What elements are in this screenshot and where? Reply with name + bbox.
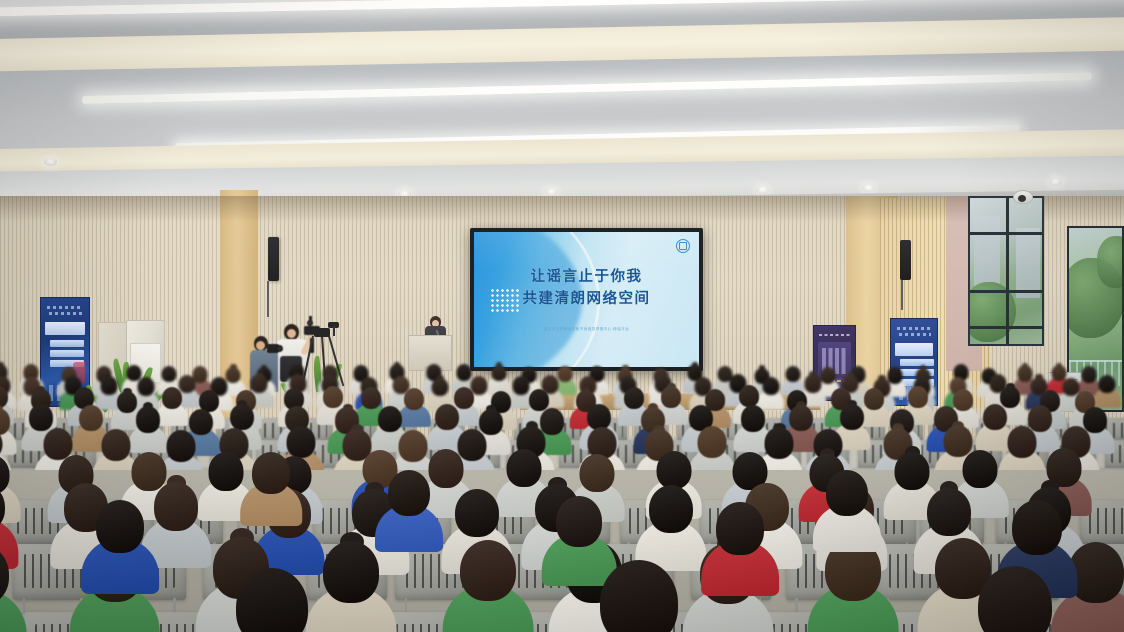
audience-head xyxy=(456,364,471,381)
speaker-cable-left xyxy=(267,281,269,317)
downlight-3 xyxy=(756,186,769,194)
audience-head xyxy=(820,367,835,384)
banner-left-headline xyxy=(45,322,85,335)
audience-member xyxy=(388,470,430,554)
audience-head xyxy=(765,427,794,459)
led-screen-frame: 让谣言止于你我 共建清朗网络空间 重庆市互联网违法和不良信息举报中心·辟谣平台 xyxy=(470,228,703,371)
audience-head xyxy=(29,404,53,430)
downlight-6 xyxy=(1049,178,1062,186)
speaker-cable-right xyxy=(901,280,903,310)
chair-back-slots xyxy=(1089,508,1124,534)
audience-member xyxy=(435,404,459,452)
audience-head xyxy=(512,376,529,395)
ceiling-security-camera xyxy=(1013,190,1033,204)
window-left-bank xyxy=(968,196,1044,346)
audience-head xyxy=(399,430,428,462)
audience-head xyxy=(136,406,160,432)
audience-head xyxy=(378,406,402,432)
audience-head xyxy=(697,426,726,458)
screen-subtitle: 重庆市互联网违法和不良信息举报中心·辟谣平台 xyxy=(474,327,699,332)
audience-member xyxy=(252,452,290,528)
audience-member xyxy=(741,405,765,453)
screen-title-line-2: 共建清朗网络空间 xyxy=(474,288,699,310)
audience-head xyxy=(460,540,516,602)
audience-head xyxy=(963,450,998,489)
audience-head xyxy=(209,452,244,491)
window-view-building-2 xyxy=(1016,228,1040,298)
audience-member xyxy=(136,406,160,454)
audience-member xyxy=(323,541,379,632)
audience-member xyxy=(154,482,198,570)
audience-foreground-head xyxy=(600,560,678,632)
downlight-4 xyxy=(862,184,875,192)
audience-head xyxy=(166,430,195,462)
audience-head xyxy=(432,378,449,397)
audience-head xyxy=(741,405,765,431)
led-screen: 让谣言止于你我 共建清朗网络空间 重庆市互联网违法和不良信息举报中心·辟谣平台 xyxy=(474,232,699,367)
audience-head xyxy=(661,386,681,408)
audience-head xyxy=(428,449,463,488)
audience-head xyxy=(1099,375,1116,394)
audience-head xyxy=(739,385,759,407)
banner-right-headline xyxy=(895,343,933,356)
audience-head xyxy=(323,386,343,408)
audience-head xyxy=(624,387,644,409)
audience-head xyxy=(79,405,103,431)
audience-member xyxy=(512,376,529,410)
audience-head xyxy=(587,404,611,430)
audience-head xyxy=(864,388,884,410)
audience-head xyxy=(388,470,430,516)
audience-member xyxy=(96,500,144,596)
audience-member xyxy=(1099,375,1116,409)
audience-head xyxy=(102,429,131,461)
audience-member xyxy=(716,502,764,598)
audience-head xyxy=(649,485,693,533)
audience-head xyxy=(558,366,573,383)
screen-title: 让谣言止于你我 共建清朗网络空间 xyxy=(474,266,699,310)
audience-member xyxy=(404,388,424,428)
wall-speaker-right xyxy=(900,240,911,280)
audience-head xyxy=(162,387,182,409)
audience-head xyxy=(226,367,241,384)
audience-member xyxy=(460,540,516,632)
audience-member xyxy=(79,405,103,453)
audience-member xyxy=(840,404,864,452)
screen-logo-icon xyxy=(676,239,690,253)
audience-member xyxy=(0,544,9,632)
wall-top-shadow xyxy=(0,196,1124,222)
audience-foreground-head xyxy=(978,566,1052,632)
audience-head xyxy=(236,568,308,632)
audience-head xyxy=(786,366,801,383)
audience-head xyxy=(1012,500,1062,555)
downlight-2 xyxy=(545,188,558,196)
audience-member xyxy=(864,388,884,428)
audience-head xyxy=(491,365,506,382)
audience-head xyxy=(579,454,614,493)
wall-camera-mount xyxy=(333,326,335,336)
door-view-tree-2 xyxy=(1097,236,1124,288)
audience-head xyxy=(656,451,691,490)
photo-camera-lens xyxy=(276,345,283,352)
audience-head xyxy=(154,482,198,530)
audience-head xyxy=(137,377,154,396)
audience-head xyxy=(100,376,117,395)
screen-title-line-1: 让谣言止于你我 xyxy=(531,269,643,285)
audience-head xyxy=(96,500,144,553)
audience-member xyxy=(117,391,137,431)
audience-member xyxy=(162,387,182,427)
audience-member xyxy=(556,496,602,588)
audience-head xyxy=(117,391,137,413)
audience-foreground-head xyxy=(236,568,308,632)
audience-head xyxy=(908,386,928,408)
conference-hall-photo: 让谣言止于你我 共建清朗网络空间 重庆市互联网违法和不良信息举报中心·辟谣平台 xyxy=(0,0,1124,632)
audience-head xyxy=(252,452,290,494)
downlight-5 xyxy=(44,158,57,166)
audience-member xyxy=(209,452,244,522)
audience-member xyxy=(762,377,779,411)
audience-head xyxy=(162,366,177,383)
audience-head xyxy=(506,449,541,488)
audience-head xyxy=(230,404,254,430)
audience-member xyxy=(983,404,1007,452)
audience-head xyxy=(1081,366,1096,383)
audience-head xyxy=(556,496,602,547)
audience-head xyxy=(287,426,316,458)
audience-head xyxy=(716,502,764,555)
audience-head xyxy=(826,470,868,516)
audience-head xyxy=(1008,426,1037,458)
audience-head xyxy=(840,404,864,430)
audience-member xyxy=(895,452,930,522)
audience-head xyxy=(762,377,779,396)
wall-speaker-left xyxy=(268,237,279,281)
audience-head xyxy=(404,388,424,410)
audience-head xyxy=(983,404,1007,430)
audience-member xyxy=(826,470,868,554)
audience-head xyxy=(600,560,678,632)
audience-head xyxy=(323,541,379,603)
audience-head xyxy=(435,404,459,430)
audience-head xyxy=(895,452,930,491)
audience-head xyxy=(455,489,499,537)
audience-head xyxy=(978,566,1052,632)
audience-head xyxy=(927,488,971,536)
